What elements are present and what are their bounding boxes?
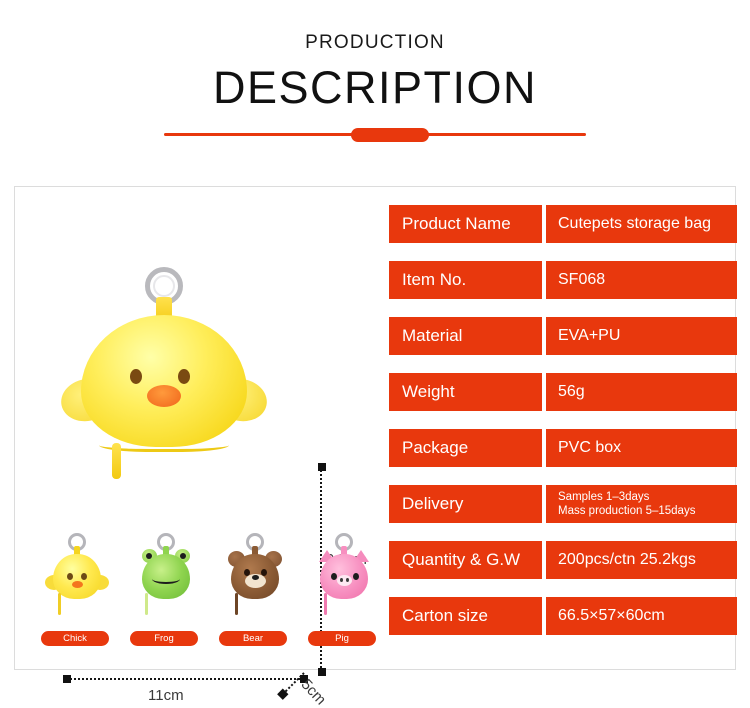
dimension-label-width: 11cm [148,687,184,704]
variant-frog[interactable]: Frog [120,533,208,655]
beak [72,581,83,588]
variant-label[interactable]: Chick [41,631,109,646]
spec-label: Item No. [389,261,542,299]
spec-value: Samples 1–3days Mass production 5–15days [546,485,737,523]
spec-value: 56g [546,373,737,411]
spec-value: SF068 [546,261,737,299]
eye-right [81,573,87,580]
spec-label: Product Name [389,205,542,243]
table-row: Item No. SF068 [389,261,737,299]
spec-label: Carton size [389,597,542,635]
spec-label: Delivery [389,485,542,523]
eye-right [180,553,186,559]
variant-thumbnail [45,533,107,619]
page-title: DESCRIPTION [0,62,750,114]
eye-left [67,573,73,580]
table-row: Product Name Cutepets storage bag [389,205,737,243]
table-row: Carton size 66.5×57×60cm [389,597,737,635]
spec-value: PVC box [546,429,737,467]
dimension-line-width [67,678,304,680]
eye-left [146,553,152,559]
variant-pig[interactable]: Pig [298,533,386,655]
spec-label: Weight [389,373,542,411]
product-photo-chick [59,267,269,482]
nose [252,575,259,580]
table-row: Quantity & G.W 200pcs/ctn 25.2kgs [389,541,737,579]
dimension-endpoint-bottom [318,668,326,676]
variant-thumbnail [134,533,196,619]
dimension-endpoint-left [63,675,71,683]
nostril-right [346,578,349,582]
spec-value: Cutepets storage bag [546,205,737,243]
zipper-pull [324,593,327,615]
table-row: Package PVC box [389,429,737,467]
variant-label[interactable]: Bear [219,631,287,646]
content-panel: 9.5cm 11cm 5cm [14,186,736,670]
spec-label: Material [389,317,542,355]
eye-right [178,369,190,384]
spec-value: 200pcs/ctn 25.2kgs [546,541,737,579]
zipper-pull [58,593,61,615]
spec-value: 66.5×57×60cm [546,597,737,635]
zipper-pull [145,593,148,615]
header-divider [164,128,586,142]
table-row: Weight 56g [389,373,737,411]
product-image-area: 9.5cm 11cm 5cm [15,187,389,671]
dimension-endpoint-depth [277,689,288,700]
eye-left [130,369,142,384]
spec-value-line1: Samples 1–3days [558,490,737,504]
variant-thumbnail [223,533,285,619]
zipper-pull [112,443,121,479]
divider-knob [351,128,429,142]
zipper-pull [235,593,238,615]
variant-label[interactable]: Pig [308,631,376,646]
variant-bear[interactable]: Bear [209,533,297,655]
beak [147,385,181,407]
eye-right [353,573,359,580]
variant-chick[interactable]: Chick [31,533,119,655]
page-header: PRODUCTION DESCRIPTION [0,0,750,175]
nostril-left [340,578,343,582]
spec-value: EVA+PU [546,317,737,355]
spec-label: Quantity & G.W [389,541,542,579]
header-kicker: PRODUCTION [0,32,750,54]
variant-thumbnail [312,533,374,619]
spec-table: Product Name Cutepets storage bag Item N… [389,205,737,661]
table-row: Material EVA+PU [389,317,737,355]
dimension-endpoint-top [318,463,326,471]
chick-body [81,315,247,447]
variant-label[interactable]: Frog [130,631,198,646]
variant-list: Chick Frog [31,533,389,655]
mouth [152,574,180,584]
spec-label: Package [389,429,542,467]
table-row: Delivery Samples 1–3days Mass production… [389,485,737,523]
spec-value-line2: Mass production 5–15days [558,504,737,518]
